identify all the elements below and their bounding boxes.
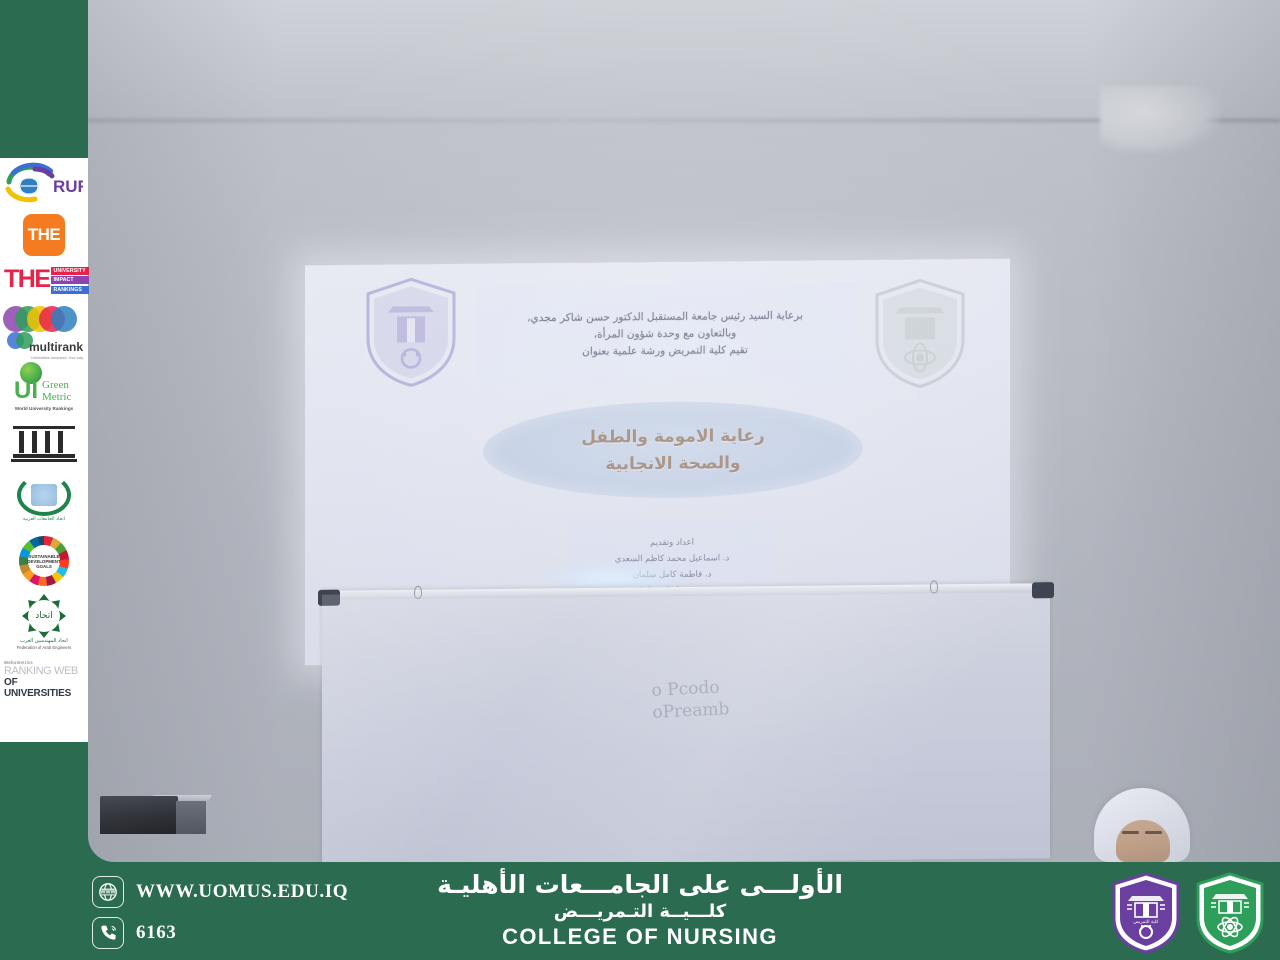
the-label: THE xyxy=(28,225,61,245)
the-orange-badge: THE xyxy=(23,214,65,256)
footer-college-of-nursing-shield-icon: كلية التمريض xyxy=(1110,872,1182,954)
classical-building-icon xyxy=(13,424,75,464)
sdg-line-3: GOALS xyxy=(36,564,52,569)
wreath-center-emblem xyxy=(31,484,57,506)
arab-universities-caption: اتحاد الجامعات العربية xyxy=(9,517,79,522)
sidebar-logo-arab-universities: اتحاد الجامعات العربية xyxy=(0,468,88,532)
sidebar-logo-classical-building xyxy=(0,420,88,468)
multirank-circle-5 xyxy=(51,306,77,332)
greenmetric-ui-label: UI xyxy=(14,378,38,404)
multirank-label: multirank xyxy=(29,340,83,354)
webometrics-mid: RANKING WEB xyxy=(4,665,84,677)
impact-bar-university: UNIVERSITY xyxy=(51,267,89,275)
footer-university-shield-icon xyxy=(1194,872,1266,954)
impact-bar-impact: IMPACT xyxy=(51,276,89,284)
footer-subline-en: COLLEGE OF NURSING xyxy=(0,924,1280,950)
footer-subline-ar: كلـــيــة التـمريـــض xyxy=(0,900,1280,924)
accreditation-logo-panel: RUR THE THE UNIVERSITY IMPACT RANKINGS xyxy=(0,158,88,742)
footer-headline-ar: الأولـــى على الجامـــعات الأهليـة xyxy=(0,870,1280,900)
photo-vignette xyxy=(88,0,1280,862)
footer-logo-group: كلية التمريض xyxy=(1110,872,1266,954)
greenmetric-green-label: Green xyxy=(42,379,69,391)
arab-engineers-glyph: اتحاد xyxy=(35,611,53,621)
sidebar-logo-the: THE xyxy=(0,210,88,260)
arab-engineers-caption-ar: اتحاد المهندسين العرب xyxy=(8,638,80,644)
sdg-wheel-icon: SUSTAINABLE DEVELOPMENT GOALS xyxy=(19,536,69,586)
svg-text:RUR: RUR xyxy=(53,177,83,196)
impact-bar-rankings: RANKINGS xyxy=(51,286,89,294)
webometrics-bot: OF UNIVERSITIES xyxy=(4,677,84,699)
greenmetric-metric-label: Metric xyxy=(42,391,71,403)
green-brand-frame: برعاية السيد رئيس جامعة المستقبل الدكتور… xyxy=(0,0,1280,960)
footer-headline-block: الأولـــى على الجامـــعات الأهليـة كلـــ… xyxy=(0,870,1280,950)
sidebar-logo-webometrics: Webometrics RANKING WEB OF UNIVERSITIES xyxy=(0,656,88,698)
sidebar-logo-ui-greenmetric: UI Green Metric World University Ranking… xyxy=(0,358,88,420)
arab-engineers-caption-en: Federation of Arab Engineers xyxy=(8,645,80,650)
svg-text:كلية التمريض: كلية التمريض xyxy=(1133,919,1159,925)
event-photograph: برعاية السيد رئيس جامعة المستقبل الدكتور… xyxy=(88,0,1280,862)
sidebar-logo-multirank: multirank Universities compared. Your wa… xyxy=(0,300,88,358)
footer-bar: WWW WWW.UOMUS.EDU.IQ 6163 الأولـــى على … xyxy=(0,862,1280,960)
greenmetric-subtitle: World University Rankings xyxy=(4,406,84,411)
the-impact-label: THE xyxy=(4,264,50,296)
sidebar-logo-sdg: SUSTAINABLE DEVELOPMENT GOALS xyxy=(0,532,88,590)
sidebar-logo-the-impact: THE UNIVERSITY IMPACT RANKINGS xyxy=(0,260,88,300)
multirank-sub: Universities compared. Your way. xyxy=(31,356,84,360)
sidebar-logo-rur: RUR xyxy=(0,158,88,210)
sidebar-logo-arab-engineers: اتحاد اتحاد المهندسين العرب Federation o… xyxy=(0,590,88,656)
